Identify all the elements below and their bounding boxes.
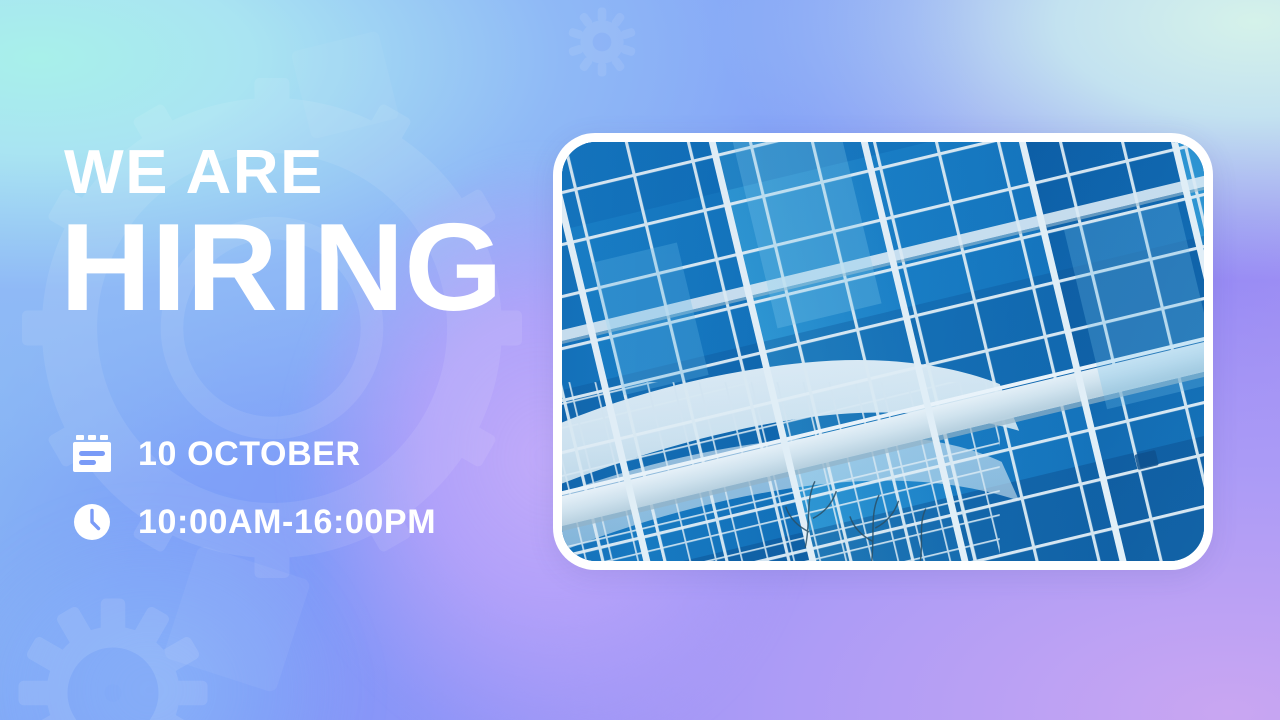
event-time-label: 10:00AM-16:00PM [138,503,436,542]
headline-line-1: WE ARE [64,144,503,203]
event-details-block: 10 OCTOBER 10:00AM-16:00PM [70,428,436,564]
headline-line-2: HIRING [60,211,503,326]
event-time-row: 10:00AM-16:00PM [70,496,436,548]
clock-icon [70,500,114,544]
photo-card [553,133,1213,570]
headline-block: WE ARE HIRING [64,144,494,326]
event-date-label: 10 OCTOBER [138,435,361,474]
calendar-icon [70,432,114,476]
event-date-row: 10 OCTOBER [70,428,436,480]
hiring-poster: WE ARE HIRING 10 OCTOBER [0,0,1280,720]
glass-office-building-photo [562,142,1204,561]
